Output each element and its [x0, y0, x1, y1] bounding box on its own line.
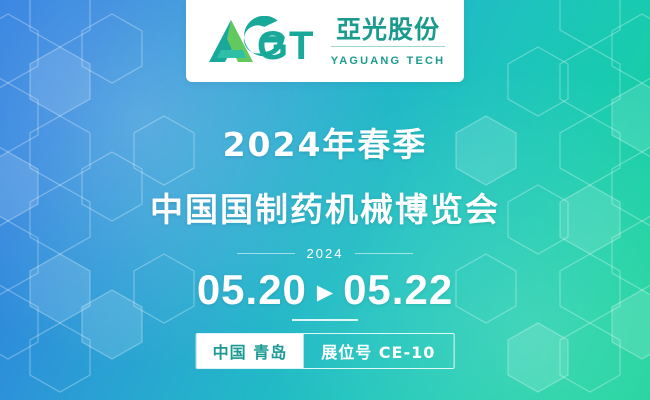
brand-logo-card: G T 亞光股份 YAGUANG TECH [186, 0, 464, 82]
location-booth-bar: 中国 青岛 展位号 CE-10 [196, 333, 455, 369]
exhibition-banner: G T 亞光股份 YAGUANG TECH 2024年春季 中国国制药机械博览会… [0, 0, 650, 400]
svg-text:G: G [257, 24, 288, 68]
year-label: 2024 [307, 246, 344, 261]
year-row: 2024 [0, 246, 650, 261]
agt-logo-icon: G T [205, 16, 323, 68]
year-rule-left [237, 253, 295, 254]
year-rule-right [355, 253, 413, 254]
brand-name-cn: 亞光股份 [336, 17, 440, 42]
svg-text:T: T [289, 24, 313, 68]
date-underline [292, 319, 358, 321]
title-line-2: 中国国制药机械博览会 [0, 183, 650, 231]
arrow-right-icon: ▶ [317, 282, 333, 303]
date-range: 05.20 ▶ 05.22 [0, 266, 650, 314]
booth-label: 展位号 CE-10 [303, 334, 453, 368]
logo-divider [331, 46, 446, 47]
location-label: 中国 青岛 [197, 334, 304, 368]
title-line-1: 2024年春季 [0, 118, 650, 166]
date-end: 05.22 [343, 266, 453, 314]
brand-name-en: YAGUANG TECH [331, 56, 446, 67]
title-block: 2024年春季 中国国制药机械博览会 [0, 118, 650, 231]
date-start: 05.20 [197, 266, 307, 314]
